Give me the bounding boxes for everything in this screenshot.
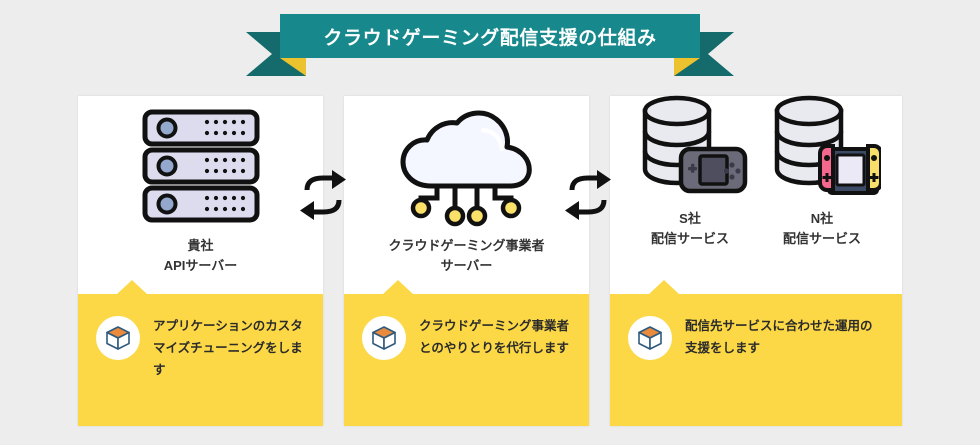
- card-label-line: クラウドゲーミング事業者: [344, 236, 589, 256]
- connector-2-exchange-arrow: [564, 170, 612, 220]
- card-label-line: 配信サービス: [783, 229, 861, 249]
- card-label-group: クラウドゲーミング事業者 サーバー: [344, 236, 589, 276]
- card-top-section: クラウドゲーミング事業者 サーバー: [344, 96, 589, 294]
- card-distribution-services: S社 配信サービス: [610, 96, 902, 426]
- cloud-network-icon: [344, 96, 589, 236]
- card-cloud-gaming-provider: クラウドゲーミング事業者 サーバー クラウドゲーミング事業者とのやりとりを代行し…: [344, 96, 589, 426]
- database-console-group: S社 配信サービス: [610, 96, 902, 236]
- card-label-line: N社: [783, 209, 861, 229]
- switch-console-icon: [820, 146, 881, 193]
- card-label-line: 貴社: [78, 236, 323, 256]
- card-label-line: APIサーバー: [78, 256, 323, 276]
- card-footer-text: アプリケーションのカスタマイズチューニングをします: [153, 316, 305, 382]
- card-label-group: S社 配信サービス: [651, 209, 729, 249]
- card-footer: アプリケーションのカスタマイズチューニングをします: [78, 294, 323, 426]
- card-footer-text: クラウドゲーミング事業者とのやりとりを代行します: [419, 316, 571, 360]
- diagram-canvas: クラウドゲーミング配信支援の仕組み: [0, 0, 980, 445]
- card-client-api-server: 貴社 APIサーバー アプリケーションのカスタマイズチューニングをします: [78, 96, 323, 426]
- ribbon-banner: クラウドゲーミング配信支援の仕組み: [246, 14, 734, 80]
- diagram-title: クラウドゲーミング配信支援の仕組み: [323, 23, 656, 50]
- server-rack-icon: [78, 96, 323, 236]
- open-box-icon: [362, 316, 406, 360]
- card-label-line: サーバー: [344, 256, 589, 276]
- open-box-icon: [96, 316, 140, 360]
- card-footer: クラウドゲーミング事業者とのやりとりを代行します: [344, 294, 589, 426]
- card-top-section: S社 配信サービス: [610, 96, 902, 294]
- card-footer: 配信先サービスに合わせた運用の支援をします: [610, 294, 902, 426]
- service-n-column: N社 配信サービス: [763, 83, 881, 249]
- connector-1-exchange-arrow: [299, 170, 347, 220]
- service-s-column: S社 配信サービス: [631, 83, 749, 249]
- card-row: 貴社 APIサーバー アプリケーションのカスタマイズチューニングをします: [78, 96, 902, 426]
- database-handheld-s-icon: [631, 83, 749, 201]
- card-label-line: 配信サービス: [651, 229, 729, 249]
- handheld-console-icon: [681, 149, 745, 191]
- database-handheld-n-icon: [763, 83, 881, 201]
- card-label-group: 貴社 APIサーバー: [78, 236, 323, 276]
- open-box-icon: [628, 316, 672, 360]
- card-label-group: N社 配信サービス: [783, 209, 861, 249]
- ribbon-band: クラウドゲーミング配信支援の仕組み: [280, 14, 700, 58]
- card-label-line: S社: [651, 209, 729, 229]
- card-footer-text: 配信先サービスに合わせた運用の支援をします: [685, 316, 884, 360]
- card-top-section: 貴社 APIサーバー: [78, 96, 323, 294]
